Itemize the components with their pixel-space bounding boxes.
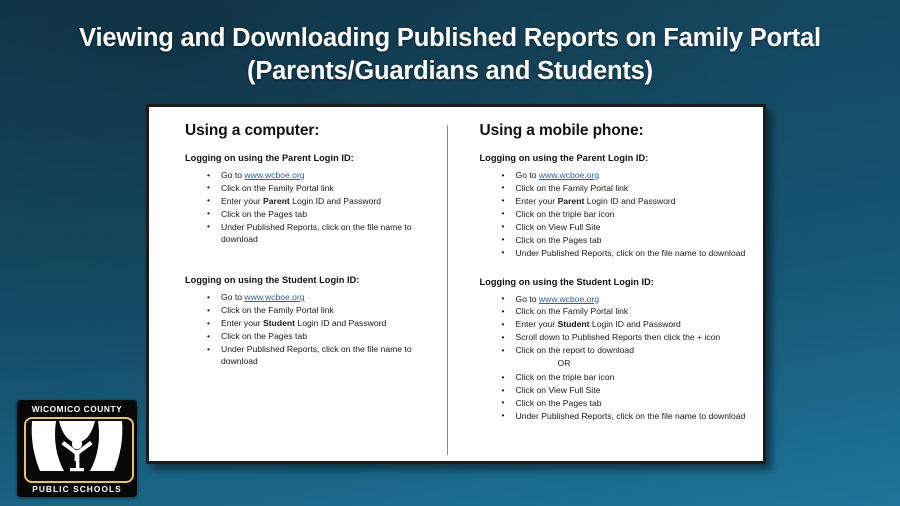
computer-instructions-column: Using a computer: Logging on using the P…: [149, 117, 447, 461]
step-item: Click on the report to download: [502, 345, 753, 357]
logo-bottom-text: PUBLIC SCHOOLS: [17, 484, 137, 494]
step-item: Under Published Reports, click on the fi…: [502, 248, 753, 260]
step-item: Under Published Reports, click on the fi…: [502, 411, 753, 423]
wcboe-website-link[interactable]: www.wcboe.org: [539, 170, 599, 180]
step-item: Go to www.wcboe.org: [207, 170, 435, 182]
step-item: Click on View Full Site: [502, 222, 753, 234]
step-item: Go to www.wcboe.org: [207, 292, 435, 304]
wcboe-website-link[interactable]: www.wcboe.org: [539, 294, 599, 304]
computer-student-steps: Go to www.wcboe.orgClick on the Family P…: [185, 292, 435, 367]
logo-top-text: WICOMICO COUNTY: [17, 404, 137, 414]
step-emphasis: Student: [558, 319, 590, 329]
mobile-student-subheading: Logging on using the Student Login ID:: [480, 277, 753, 287]
step-emphasis: Parent: [263, 196, 290, 206]
computer-student-subheading: Logging on using the Student Login ID:: [185, 275, 435, 285]
title-line-2: (Parents/Guardians and Students): [0, 55, 900, 88]
wcboe-website-link[interactable]: www.wcboe.org: [244, 170, 304, 180]
step-or-separator: OR: [502, 358, 753, 370]
title-line-1: Viewing and Downloading Published Report…: [0, 22, 900, 55]
logo-emblem-icon: [24, 417, 134, 483]
step-item: Click on the triple bar icon: [502, 209, 753, 221]
step-item: Enter your Student Login ID and Password: [207, 318, 435, 330]
two-column-layout: Using a computer: Logging on using the P…: [149, 107, 763, 461]
step-item: Click on the Pages tab: [502, 235, 753, 247]
step-item: Click on the Family Portal link: [502, 183, 753, 195]
slide-canvas: Viewing and Downloading Published Report…: [0, 0, 900, 506]
mobile-parent-subheading: Logging on using the Parent Login ID:: [480, 153, 753, 163]
step-item: Click on the Pages tab: [207, 331, 435, 343]
step-item: Under Published Reports, click on the fi…: [207, 222, 435, 245]
step-item: Click on the triple bar icon: [502, 372, 753, 384]
step-emphasis: Student: [263, 318, 295, 328]
mobile-column-heading: Using a mobile phone:: [480, 122, 753, 140]
computer-parent-subheading: Logging on using the Parent Login ID:: [185, 153, 435, 163]
slide-title: Viewing and Downloading Published Report…: [0, 22, 900, 88]
step-item: Enter your Parent Login ID and Password: [502, 196, 753, 208]
step-item: Go to www.wcboe.org: [502, 294, 753, 306]
wcboe-website-link[interactable]: www.wcboe.org: [244, 292, 304, 302]
step-item: Under Published Reports, click on the fi…: [207, 344, 435, 367]
wicomico-county-public-schools-logo: WICOMICO COUNTY PUBLIC SCHOOLS: [17, 400, 137, 497]
content-panel: Using a computer: Logging on using the P…: [146, 104, 766, 464]
step-item: Go to www.wcboe.org: [502, 170, 753, 182]
step-item: Click on the Family Portal link: [207, 305, 435, 317]
step-item: Click on the Family Portal link: [207, 183, 435, 195]
step-item: Enter your Student Login ID and Password: [502, 319, 753, 331]
step-item: Click on View Full Site: [502, 385, 753, 397]
step-item: Scroll down to Published Reports then cl…: [502, 332, 753, 344]
step-emphasis: Parent: [558, 196, 585, 206]
step-item: Click on the Pages tab: [502, 398, 753, 410]
step-item: Click on the Family Portal link: [502, 306, 753, 318]
mobile-student-steps: Go to www.wcboe.orgClick on the Family P…: [480, 294, 753, 423]
mobile-instructions-column: Using a mobile phone: Logging on using t…: [448, 117, 763, 461]
mobile-parent-steps: Go to www.wcboe.orgClick on the Family P…: [480, 170, 753, 260]
step-item: Click on the Pages tab: [207, 209, 435, 221]
computer-parent-steps: Go to www.wcboe.orgClick on the Family P…: [185, 170, 435, 245]
logo-figure-icon: [26, 419, 128, 477]
step-item: Enter your Parent Login ID and Password: [207, 196, 435, 208]
computer-column-heading: Using a computer:: [185, 122, 435, 140]
